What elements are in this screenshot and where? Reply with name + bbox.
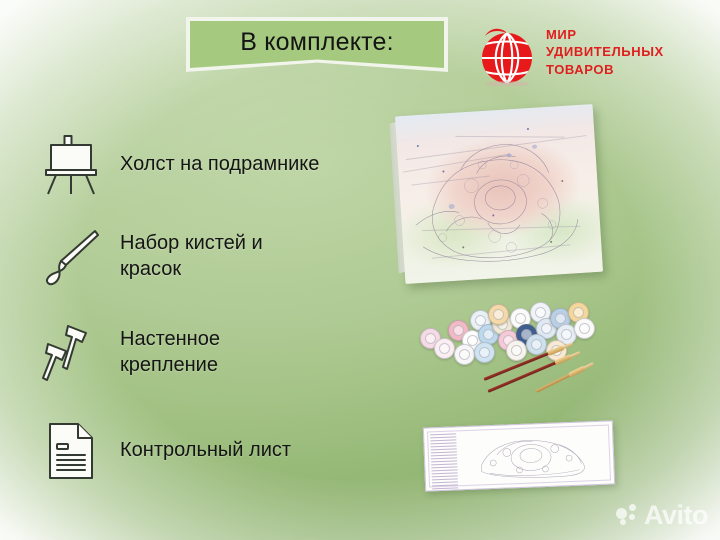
logo-line-1: МИР bbox=[546, 26, 664, 43]
control-sheet-photo bbox=[423, 420, 615, 491]
feature-label-canvas: Холст на подрамнике bbox=[120, 152, 319, 178]
avito-dots-icon bbox=[616, 504, 642, 526]
feature-label-wall-mount: Настенное крепление bbox=[120, 327, 220, 378]
feature-item-wall-mount: Настенное крепление bbox=[40, 322, 220, 384]
canvas-outline-art bbox=[395, 104, 603, 284]
feature-label-wall-mount-l2: крепление bbox=[120, 354, 218, 376]
canvas-printed-face bbox=[395, 104, 603, 284]
feature-item-brushes: Набор кистей и красок bbox=[40, 226, 263, 288]
feature-item-control-sheet: Контрольный лист bbox=[40, 420, 291, 482]
red-globe-icon bbox=[476, 24, 538, 86]
brand-logo: МИР УДИВИТЕЛЬНЫХ ТОВАРОВ bbox=[476, 24, 692, 94]
paint-pot bbox=[454, 344, 475, 365]
feature-label-brushes: Набор кистей и красок bbox=[120, 231, 263, 282]
slide-root: В комплекте: МИР УДИВИТЕЛЬНЫХ Т bbox=[0, 0, 720, 540]
avito-watermark: Avito bbox=[616, 500, 708, 530]
paint-pot bbox=[434, 338, 455, 359]
feature-item-canvas: Холст на подрамнике bbox=[40, 134, 319, 196]
paintbrush-icon bbox=[40, 226, 102, 288]
feature-label-control-sheet: Контрольный лист bbox=[120, 438, 291, 464]
logo-line-2: УДИВИТЕЛЬНЫХ bbox=[546, 43, 664, 60]
page-title: В комплекте: bbox=[240, 21, 394, 55]
logo-line-3: ТОВАРОВ bbox=[546, 61, 664, 78]
nails-icon bbox=[40, 322, 102, 384]
brand-logo-text: МИР УДИВИТЕЛЬНЫХ ТОВАРОВ bbox=[546, 26, 664, 78]
title-banner: В комплекте: bbox=[186, 17, 448, 72]
avito-wordmark: Avito bbox=[644, 502, 708, 529]
feature-label-wall-mount-l1: Настенное bbox=[120, 328, 220, 350]
document-icon bbox=[40, 420, 102, 482]
feature-label-brushes-l1: Набор кистей и bbox=[120, 232, 263, 254]
control-sheet-line-art bbox=[462, 427, 608, 484]
paint-brush bbox=[535, 373, 570, 392]
paint-pot bbox=[488, 304, 509, 325]
easel-canvas-icon bbox=[40, 134, 102, 196]
paint-by-numbers-canvas-photo bbox=[395, 104, 603, 284]
paint-brushes-photo bbox=[484, 332, 602, 400]
feature-label-brushes-l2: красок bbox=[120, 258, 181, 280]
control-sheet-legend bbox=[430, 433, 458, 484]
